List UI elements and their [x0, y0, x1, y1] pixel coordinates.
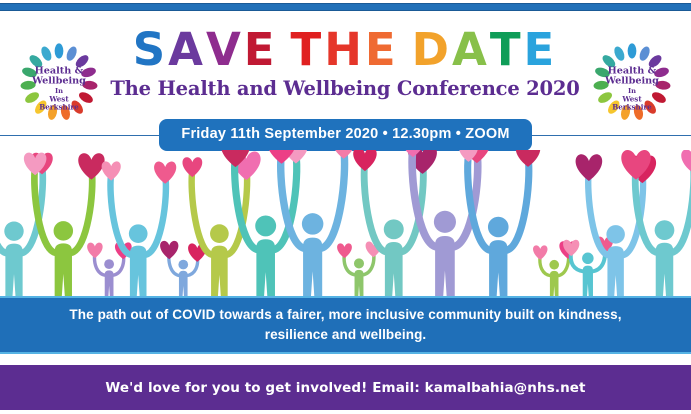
heart-shape	[332, 150, 355, 159]
wellbeing-circle-logo-icon: Health & Wellbeing In West Berkshire	[589, 40, 675, 124]
heart-shape	[182, 157, 202, 177]
logo-petal	[628, 43, 637, 58]
heart-shape	[337, 243, 352, 258]
headline-letter-0: S	[133, 24, 168, 76]
ribbon-rule-right	[532, 135, 691, 136]
svg-text:Berkshire: Berkshire	[612, 103, 652, 112]
person-head	[54, 221, 73, 240]
logo-petal	[39, 45, 53, 62]
logo-petal	[23, 90, 40, 105]
contact-footer: We'd love for you to get involved! Email…	[0, 365, 691, 410]
person-head	[4, 221, 23, 240]
person-body	[435, 236, 455, 298]
person-arm	[506, 157, 529, 250]
person-figure	[95, 253, 124, 298]
person-body	[607, 246, 623, 298]
person-head	[302, 213, 324, 235]
logo-left: Health & Wellbeing In West Berkshire	[16, 40, 102, 124]
headline-letter-11: T	[490, 24, 524, 76]
person-body	[303, 238, 322, 298]
heart-shape	[160, 241, 178, 259]
logo-petal	[650, 90, 667, 105]
date-ribbon-row: Friday 11th September 2020 • 12.30pm • Z…	[0, 118, 691, 152]
poster-header: Health & Wellbeing In West Berkshire SAV…	[0, 16, 691, 112]
person-body	[55, 243, 72, 298]
person-figure	[281, 150, 345, 298]
person-figure	[540, 253, 569, 298]
save-the-date-poster: Health & Wellbeing In West Berkshire SAV…	[0, 0, 691, 414]
person-figure	[344, 252, 374, 298]
person-head	[354, 258, 364, 268]
heart-shape	[576, 154, 603, 181]
person-arm	[671, 164, 691, 253]
theme-line-2: resilience and wellbeing.	[265, 327, 427, 342]
headline-letter-5: T	[291, 24, 325, 76]
headline-letter-2: V	[206, 24, 244, 76]
person-body	[656, 243, 674, 298]
person-head	[549, 260, 559, 270]
logo-petal	[596, 90, 613, 105]
person-body	[179, 271, 188, 298]
headline-letter-6: H	[324, 24, 365, 76]
headline-letter-1: A	[168, 24, 206, 76]
person-head	[488, 217, 509, 238]
headline-letter-9: D	[412, 24, 452, 76]
logo-petal	[77, 90, 94, 105]
theme-strap: The path out of COVID towards a fairer, …	[0, 296, 691, 354]
headline-letter-3: E	[244, 24, 278, 76]
person-head	[210, 224, 229, 243]
person-arm	[364, 162, 386, 252]
person-body	[550, 271, 559, 298]
heart-shape	[78, 153, 104, 179]
person-body	[385, 242, 403, 298]
contact-footer-text: We'd love for you to get involved! Email…	[105, 380, 585, 396]
headline-letter-12: E	[524, 24, 558, 76]
ribbon-rule-left	[0, 135, 159, 136]
title-block: SAVETHEDATE The Health and Wellbeing Con…	[110, 24, 580, 100]
top-accent-bar	[0, 3, 691, 11]
logo-petal	[65, 45, 79, 62]
people-holding-hearts-icon	[0, 150, 691, 298]
person-head	[178, 260, 188, 270]
person-head	[582, 253, 594, 265]
person-head	[384, 219, 404, 239]
person-head	[434, 211, 456, 233]
wellbeing-circle-logo-icon: Health & Wellbeing In West Berkshire	[16, 40, 102, 124]
svg-text:Berkshire: Berkshire	[39, 103, 79, 112]
logo-petal	[55, 43, 64, 58]
person-head	[104, 259, 114, 269]
headline-letter-10: A	[452, 24, 490, 76]
logo-petal	[612, 45, 626, 62]
event-date-badge: Friday 11th September 2020 • 12.30pm • Z…	[159, 119, 531, 151]
headline-save-the-date: SAVETHEDATE	[110, 24, 580, 76]
person-figure	[169, 253, 198, 298]
heart-shape	[533, 245, 547, 260]
heart-shape	[516, 150, 540, 167]
person-figure	[110, 174, 165, 298]
heart-shape	[353, 150, 376, 171]
person-body	[583, 266, 593, 298]
person-head	[655, 220, 675, 240]
theme-strap-text: The path out of COVID towards a fairer, …	[46, 305, 646, 345]
footer-bottom-rule	[0, 410, 691, 414]
person-body	[211, 246, 228, 298]
logo-right: Health & Wellbeing In West Berkshire	[589, 40, 675, 124]
theme-line-1: The path out of COVID towards a fairer, …	[69, 307, 621, 322]
person-body	[130, 246, 147, 298]
conference-subtitle: The Health and Wellbeing Conference 2020	[110, 77, 580, 100]
person-head	[255, 215, 276, 236]
heart-shape	[681, 150, 691, 173]
person-figure	[571, 248, 605, 298]
crowd-illustration	[0, 150, 691, 298]
heart-shape	[87, 243, 102, 259]
person-head	[129, 224, 148, 243]
logo-petal	[638, 45, 652, 62]
heart-shape	[154, 161, 176, 183]
svg-text:Wellbeing: Wellbeing	[31, 76, 86, 87]
person-arm	[635, 168, 657, 253]
person-arm	[70, 169, 92, 253]
person-arm	[0, 169, 7, 253]
person-body	[105, 270, 114, 298]
person-arm	[192, 170, 213, 255]
heart-shape	[102, 161, 121, 180]
person-body	[256, 239, 275, 298]
person-body	[5, 244, 22, 298]
person-arm	[320, 150, 344, 248]
person-body	[355, 270, 364, 298]
person-body	[489, 240, 507, 298]
svg-text:Wellbeing: Wellbeing	[604, 76, 659, 87]
person-head	[606, 225, 624, 243]
headline-letter-7: E	[365, 24, 399, 76]
